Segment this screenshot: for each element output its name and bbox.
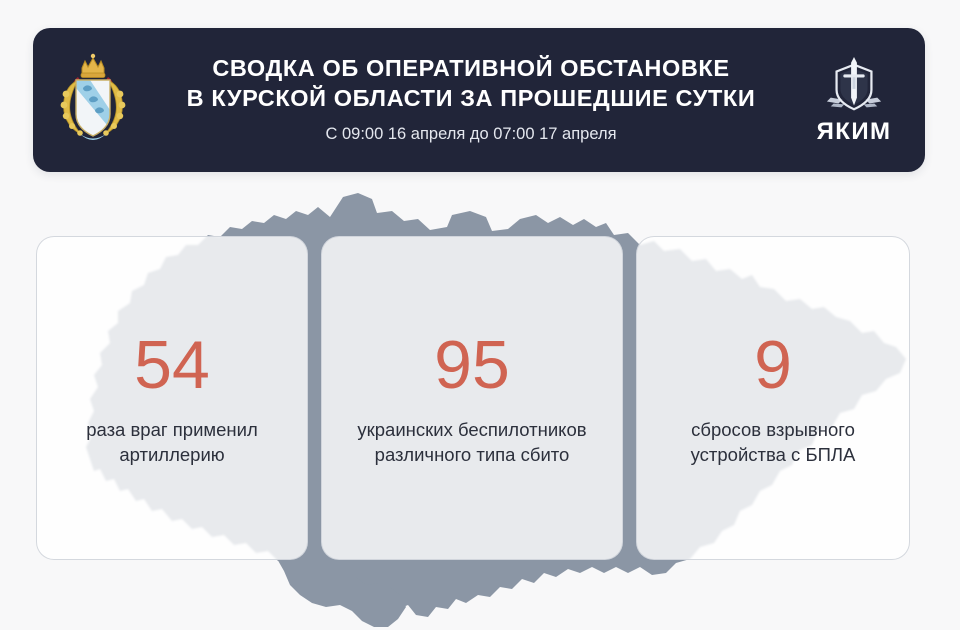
- header-text-block: СВОДКА ОБ ОПЕРАТИВНОЙ ОБСТАНОВКЕ В КУРСК…: [153, 53, 789, 147]
- stat-value: 54: [134, 329, 210, 401]
- shield-with-sword-icon: [823, 55, 885, 117]
- brand-name: ЯКИМ: [817, 119, 892, 145]
- kursk-coat-of-arms-icon: [33, 52, 153, 148]
- stat-value: 95: [434, 329, 510, 401]
- stat-label: украинских беспилотников различного типа…: [357, 417, 586, 467]
- header-bar: СВОДКА ОБ ОПЕРАТИВНОЙ ОБСТАНОВКЕ В КУРСК…: [33, 28, 925, 172]
- page-title-line-2: В КУРСКОЙ ОБЛАСТИ ЗА ПРОШЕДШИЕ СУТКИ: [187, 83, 756, 113]
- report-period-subtitle: С 09:00 16 апреля до 07:00 17 апреля: [325, 124, 616, 145]
- stat-card-drones-downed: 95 украинских беспилотников различного т…: [321, 236, 623, 560]
- stat-label: сбросов взрывного устройства с БПЛА: [691, 417, 856, 467]
- infographic-page: СВОДКА ОБ ОПЕРАТИВНОЙ ОБСТАНОВКЕ В КУРСК…: [0, 0, 960, 630]
- stat-card-artillery: 54 раза враг применил артиллерию: [36, 236, 308, 560]
- stat-cards-row: 54 раза враг применил артиллерию 95 укра…: [36, 236, 924, 560]
- stat-value: 9: [754, 329, 792, 401]
- page-title-line-1: СВОДКА ОБ ОПЕРАТИВНОЙ ОБСТАНОВКЕ: [212, 53, 729, 83]
- stat-card-explosive-drops: 9 сбросов взрывного устройства с БПЛА: [636, 236, 910, 560]
- brand-logo: ЯКИМ: [789, 55, 925, 145]
- stat-label: раза враг применил артиллерию: [86, 417, 258, 467]
